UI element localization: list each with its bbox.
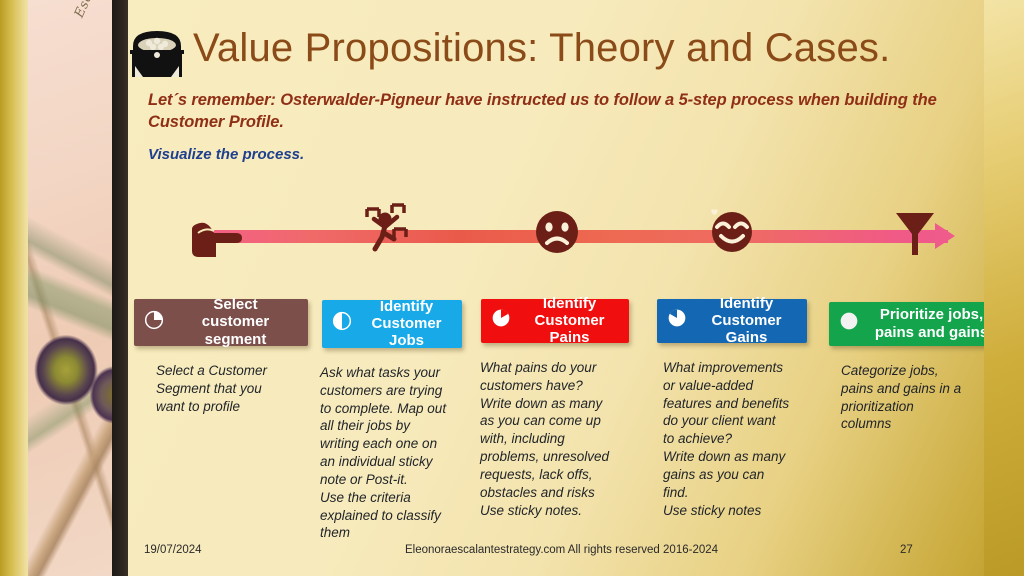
- step-heading: Identify Customer Pains: [518, 295, 621, 347]
- step-cards: Select customer segment Select a Custome…: [0, 0, 1024, 576]
- step-body-identify-customer-pains: What pains do your customers have? Write…: [480, 359, 656, 519]
- step-body-identify-customer-gains: What improvements or value-added feature…: [663, 359, 833, 519]
- step-card-select-customer-segment[interactable]: Select customer segment Select a Custome…: [134, 299, 308, 415]
- step-header-identify-customer-pains[interactable]: Identify Customer Pains: [481, 299, 629, 343]
- step-card-prioritize-jobs-pains-gains[interactable]: Prioritize jobs, pains and gains Categor…: [829, 302, 1005, 433]
- step-card-identify-customer-jobs[interactable]: Identify Customer Jobs Ask what tasks yo…: [322, 300, 462, 542]
- step-body-select-customer-segment: Select a Customer Segment that you want …: [156, 362, 316, 415]
- right-gold-band: [984, 0, 1024, 576]
- step-card-identify-customer-gains[interactable]: Identify Customer Gains What improvement…: [657, 299, 807, 519]
- step-body-identify-customer-jobs: Ask what tasks your customers are trying…: [320, 364, 492, 542]
- pie-chart-half-icon: [332, 311, 352, 336]
- step-heading: Select customer segment: [171, 296, 300, 348]
- circle-full-icon: [839, 311, 859, 336]
- footer-copyright: Eleonoraescalantestrategy.com All rights…: [405, 544, 718, 556]
- step-header-identify-customer-jobs[interactable]: Identify Customer Jobs: [322, 300, 462, 348]
- slide-footer: 19/07/2024 Eleonoraescalantestrategy.com…: [128, 541, 988, 565]
- pie-chart-near-full-icon: [667, 308, 687, 333]
- slide-canvas: Escalante Value Propositions: Theory and…: [0, 0, 1024, 576]
- step-body-prioritize-jobs-pains-gains: Categorize jobs, pains and gains in a pr…: [841, 362, 1001, 433]
- step-card-identify-customer-pains[interactable]: Identify Customer Pains What pains do yo…: [481, 299, 629, 519]
- pie-chart-quarter-icon: [144, 310, 164, 335]
- footer-page-number: 27: [900, 544, 913, 556]
- step-header-select-customer-segment[interactable]: Select customer segment: [134, 299, 308, 346]
- step-heading: Identify Customer Gains: [694, 295, 799, 347]
- step-heading: Prioritize jobs, pains and gains: [866, 306, 997, 341]
- footer-date: 19/07/2024: [144, 544, 202, 556]
- pie-chart-three-quarter-icon: [491, 308, 511, 333]
- step-header-prioritize-jobs-pains-gains[interactable]: Prioritize jobs, pains and gains: [829, 302, 1005, 346]
- step-heading: Identify Customer Jobs: [359, 298, 454, 350]
- step-header-identify-customer-gains[interactable]: Identify Customer Gains: [657, 299, 807, 343]
